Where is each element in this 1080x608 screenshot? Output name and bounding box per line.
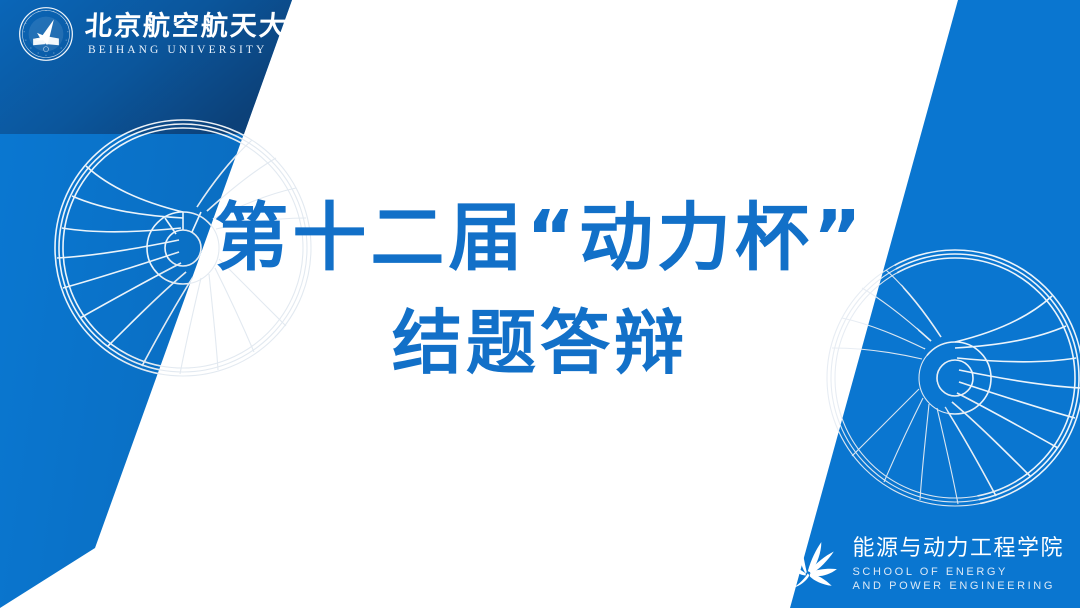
school-name-en-line-2: AND POWER ENGINEERING bbox=[852, 581, 1064, 592]
school-wordmark: 能源与动力工程学院 SCHOOL OF ENERGY AND POWER ENG… bbox=[852, 538, 1064, 592]
school-name-en-line-1: SCHOOL OF ENERGY bbox=[852, 567, 1064, 578]
beihang-seal-icon bbox=[18, 6, 74, 62]
school-name-cn: 能源与动力工程学院 bbox=[852, 538, 1064, 560]
university-lockup: 北京航空航天大学 BEIHANG UNIVERSITY bbox=[18, 6, 317, 62]
university-name-cn: 北京航空航天大学 bbox=[84, 13, 317, 40]
slide-title-line-2: 结题答辩 bbox=[0, 304, 1080, 384]
slide-title-line-1: 第十二届“动力杯” bbox=[0, 196, 1080, 280]
school-lockup: 能源与动力工程学院 SCHOOL OF ENERGY AND POWER ENG… bbox=[787, 538, 1064, 592]
university-wordmark: 北京航空航天大学 BEIHANG UNIVERSITY bbox=[85, 11, 317, 57]
slide-title-block: 第十二届“动力杯” 结题答辩 bbox=[0, 196, 1080, 384]
energy-leaf-icon bbox=[787, 539, 839, 591]
university-name-en: BEIHANG UNIVERSITY bbox=[85, 45, 317, 57]
presentation-slide: 北京航空航天大学 BEIHANG UNIVERSITY 第十二届“动力杯” 结题… bbox=[0, 0, 1080, 608]
